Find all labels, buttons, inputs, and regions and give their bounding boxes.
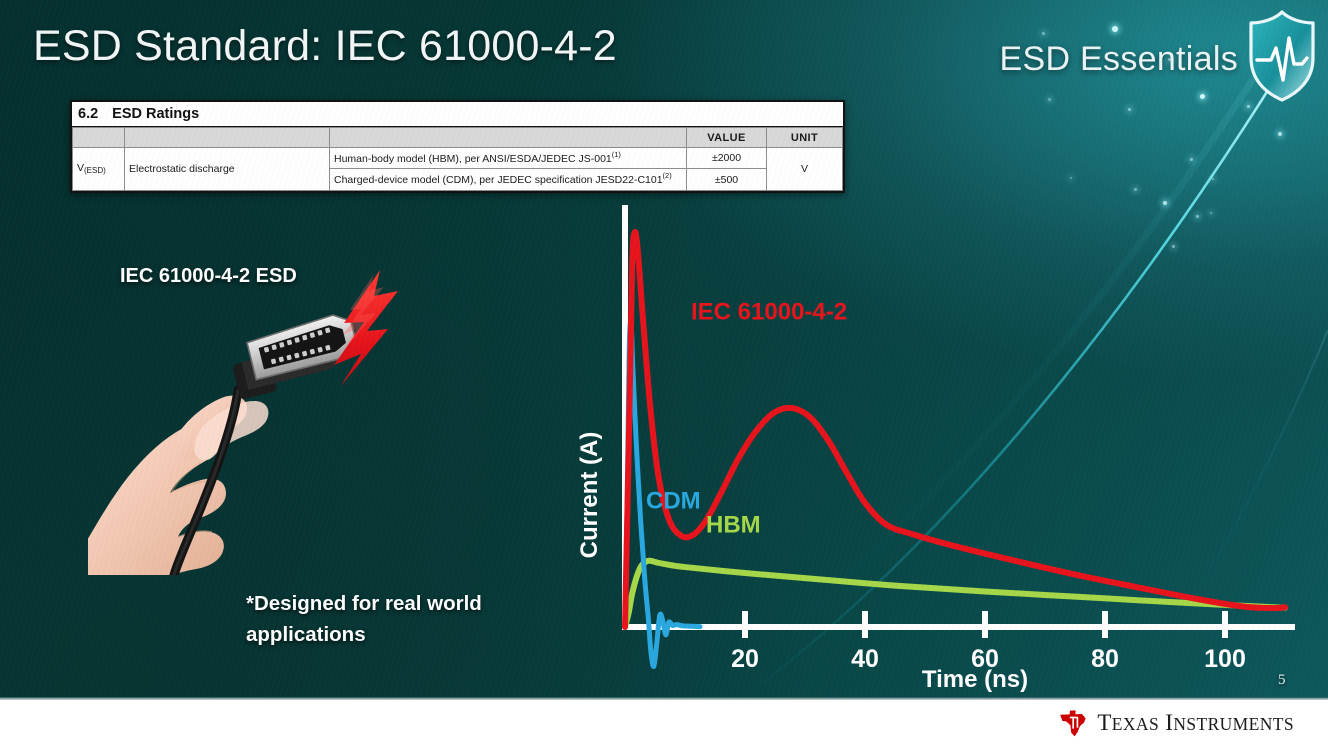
header-parameter-blank xyxy=(125,128,330,148)
sparkle-dot xyxy=(1247,105,1250,108)
sparkle-dot xyxy=(1212,178,1214,180)
cell-parameter: Electrostatic discharge xyxy=(125,148,330,191)
chart-series-group xyxy=(625,232,1285,667)
shield-pulse-icon xyxy=(1244,8,1320,104)
series-label-hbm: HBM xyxy=(706,511,761,538)
sparkle-dot xyxy=(1070,177,1072,179)
table-row: V(ESD) Electrostatic discharge Human-bod… xyxy=(73,148,843,169)
sparkle-dot xyxy=(1190,158,1193,161)
cell-description: Charged-device model (CDM), per JEDEC sp… xyxy=(330,169,687,190)
x-tick-label: 40 xyxy=(851,645,879,673)
description-text: Charged-device model (CDM), per JEDEC sp… xyxy=(334,174,663,186)
table-section-number: 6.2 xyxy=(78,106,98,122)
table-section-heading: 6.2 ESD Ratings xyxy=(72,100,843,127)
x-tick-label: 100 xyxy=(1204,645,1246,673)
sparkle-dot xyxy=(1278,132,1282,136)
series-label-iec-61000-4-2: IEC 61000-4-2 xyxy=(691,298,847,325)
slide-canvas: ESD Standard: IEC 61000-4-2 ESD Essentia… xyxy=(0,0,1328,700)
chart-series-labels: IEC 61000-4-2CDMHBM xyxy=(646,298,847,538)
series-label-cdm: CDM xyxy=(646,488,701,515)
x-tick-label: 80 xyxy=(1091,645,1119,673)
header-value: VALUE xyxy=(687,128,767,148)
brand-badge: ESD Essentials xyxy=(999,14,1320,104)
x-axis-title: Time (ns) xyxy=(922,666,1028,693)
brand-label: ESD Essentials xyxy=(999,40,1238,79)
chart-svg: 20406080100 IEC 61000-4-2CDMHBM Current … xyxy=(575,195,1315,700)
texas-outline-icon xyxy=(1058,708,1088,738)
description-text: Human-body model (HBM), per ANSI/ESDA/JE… xyxy=(334,153,612,165)
symbol-text: V xyxy=(77,162,84,174)
cell-symbol: V(ESD) xyxy=(73,148,125,191)
series-line-iec-61000-4-2 xyxy=(625,232,1285,627)
header-symbol-blank xyxy=(73,128,125,148)
sparkle-dot xyxy=(1128,108,1131,111)
ti-logo: TEXAS INSTRUMENTS xyxy=(1058,708,1294,738)
hand-holding-hdmi-cable-icon xyxy=(88,255,438,575)
description-footnote: (1) xyxy=(612,150,621,159)
y-axis-title: Current (A) xyxy=(576,432,603,559)
description-footnote: (2) xyxy=(663,171,672,180)
header-description-blank xyxy=(330,128,687,148)
cell-unit: V xyxy=(767,148,843,191)
ratings-table: VALUE UNIT V(ESD) Electrostatic discharg… xyxy=(72,127,843,191)
page-title: ESD Standard: IEC 61000-4-2 xyxy=(33,22,617,71)
esd-ratings-table: 6.2 ESD Ratings VALUE UNIT V(ESD) xyxy=(70,100,845,193)
cell-description: Human-body model (HBM), per ANSI/ESDA/JE… xyxy=(330,148,687,169)
table-header-row: VALUE UNIT xyxy=(73,128,843,148)
cell-value: ±2000 xyxy=(687,148,767,169)
header-unit: UNIT xyxy=(767,128,843,148)
symbol-subscript: (ESD) xyxy=(84,166,106,175)
esd-waveform-chart: 20406080100 IEC 61000-4-2CDMHBM Current … xyxy=(575,195,1315,700)
ti-logo-text: TEXAS INSTRUMENTS xyxy=(1097,710,1294,736)
slide-root: ESD Standard: IEC 61000-4-2 ESD Essentia… xyxy=(0,0,1328,746)
x-tick-label: 20 xyxy=(731,645,759,673)
table-section-title: ESD Ratings xyxy=(112,106,199,122)
note-text: *Designed for real world applications xyxy=(246,589,576,651)
slide-footer: TEXAS INSTRUMENTS xyxy=(0,700,1328,746)
page-number: 5 xyxy=(1278,672,1286,689)
cell-value: ±500 xyxy=(687,169,767,190)
sparkle-dot xyxy=(1134,188,1137,191)
